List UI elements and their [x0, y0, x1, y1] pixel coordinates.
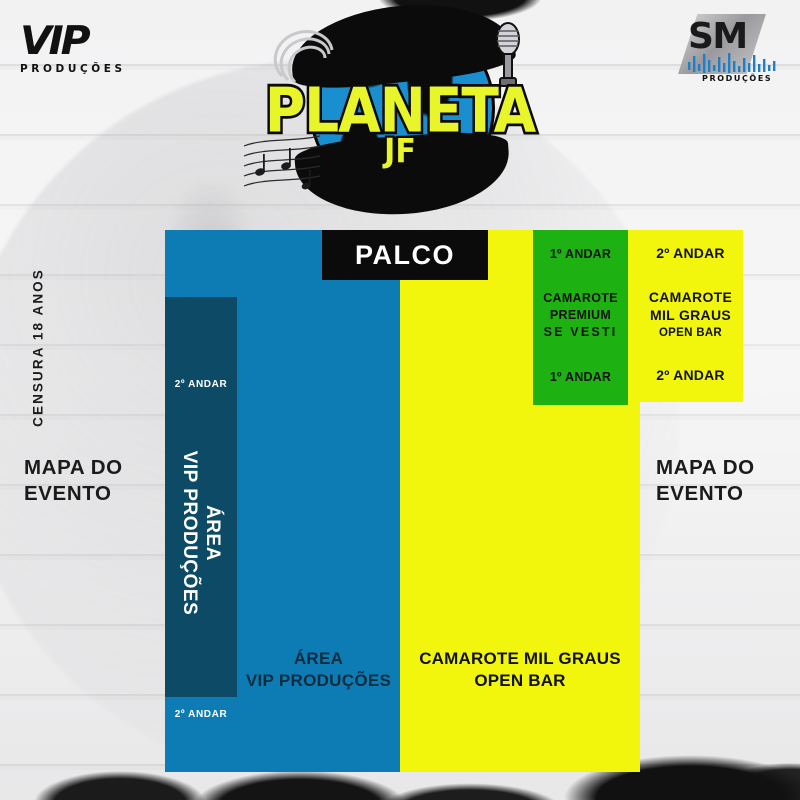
vip-strip-label: ÁREA VIP PRODUÇÕES — [178, 451, 224, 616]
vip-producoes-logo: VIP PRODUÇÕES — [20, 22, 140, 78]
vip-logo-subtitle: PRODUÇÕES — [20, 63, 140, 75]
map-zone-camarote-mil-graus-open-bar[interactable]: 2º ANDAR CAMAROTE MIL GRAUS OPEN BAR 2º … — [638, 230, 743, 402]
premium-line-2: PREMIUM — [533, 307, 628, 324]
milgraus-box-body: CAMAROTE MIL GRAUS OPEN BAR — [638, 288, 743, 342]
sm-logo-subtitle: PRODUÇÕES — [702, 74, 772, 83]
map-zone-area-vip-producoes[interactable]: 2º ANDAR ÁREA VIP PRODUÇÕES 2º ANDAR ÁRE… — [165, 230, 400, 772]
planeta-jf-subtitle: JF — [240, 132, 560, 171]
premium-floor-bottom-label: 1º ANDAR — [533, 370, 628, 384]
mapa-do-evento-label-left: MAPA DO EVENTO — [24, 455, 154, 507]
palco-label: PALCO — [355, 240, 455, 271]
map-zone-palco-stage[interactable]: PALCO — [322, 230, 488, 280]
sm-producoes-logo: SM PRODUÇÕES — [672, 12, 782, 90]
map-zone-camarote-premium-se-vesti[interactable]: 1º ANDAR CAMAROTE PREMIUM SE VESTI 1º AN… — [533, 230, 628, 405]
camarote-main-bottom-label: CAMAROTE MIL GRAUS OPEN BAR — [400, 648, 640, 692]
premium-box-body: CAMAROTE PREMIUM SE VESTI — [533, 290, 628, 341]
vip-area-bottom-label: ÁREA VIP PRODUÇÕES — [237, 648, 400, 692]
event-map: 2º ANDAR ÁREA VIP PRODUÇÕES 2º ANDAR ÁRE… — [165, 230, 743, 772]
vip-strip-rotated-label-wrap: ÁREA VIP PRODUÇÕES — [165, 333, 237, 733]
premium-line-1: CAMAROTE — [533, 290, 628, 307]
milgraus-line-1: CAMAROTE — [638, 288, 743, 306]
premium-floor-top-label: 1º ANDAR — [533, 247, 628, 261]
milgraus-floor-bottom-label: 2º ANDAR — [638, 367, 743, 383]
vip-logo-icon: VIP — [20, 22, 146, 62]
sm-audio-waveform-icon — [686, 52, 778, 74]
milgraus-line-3: OPEN BAR — [638, 324, 743, 342]
milgraus-floor-top-label: 2º ANDAR — [638, 245, 743, 261]
vip-strip-floor-bottom-label: 2º ANDAR — [165, 709, 237, 720]
map-zone-vip-second-floor-strip[interactable]: 2º ANDAR ÁREA VIP PRODUÇÕES 2º ANDAR — [165, 297, 237, 697]
premium-line-3: SE VESTI — [533, 324, 628, 341]
planeta-jf-logo: PLANETA JF — [240, 4, 560, 219]
milgraus-line-2: MIL GRAUS — [638, 306, 743, 324]
censura-18-anos-label: CENSURA 18 ANOS — [31, 258, 46, 438]
